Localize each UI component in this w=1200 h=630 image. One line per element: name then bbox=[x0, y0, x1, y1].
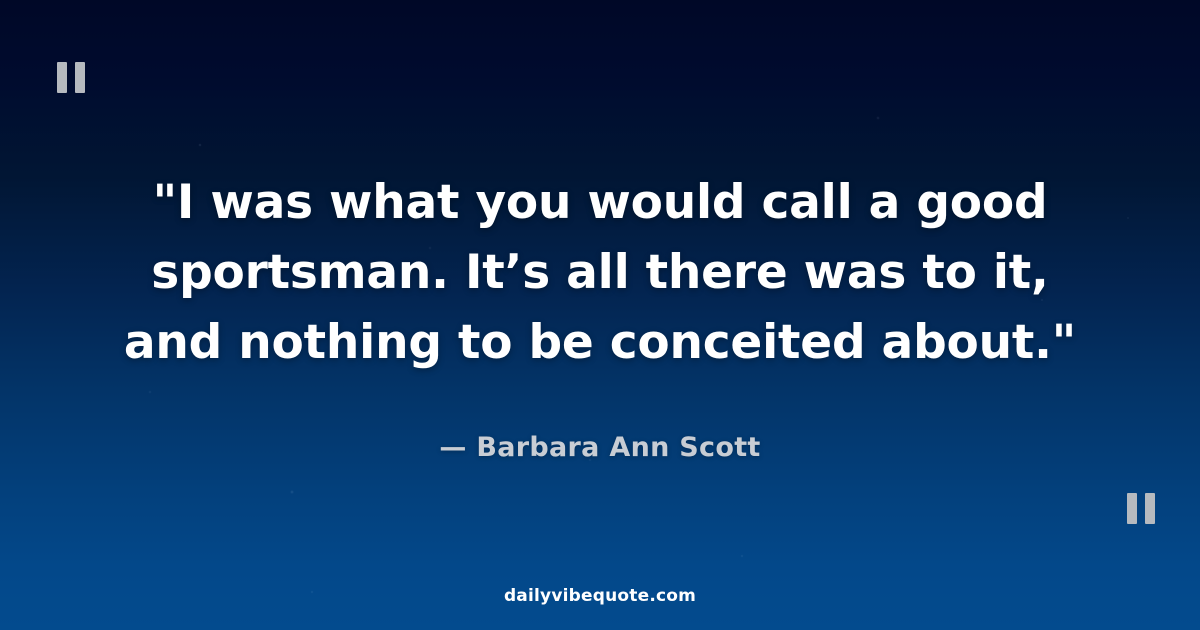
quote-content: "I was what you would call a good sports… bbox=[0, 0, 1200, 630]
quote-attribution: — Barbara Ann Scott bbox=[439, 432, 760, 463]
quote-text: "I was what you would call a good sports… bbox=[95, 168, 1105, 378]
footer-site-name: dailyvibequote.com bbox=[0, 586, 1200, 606]
quote-card: "I was what you would call a good sports… bbox=[0, 0, 1200, 630]
